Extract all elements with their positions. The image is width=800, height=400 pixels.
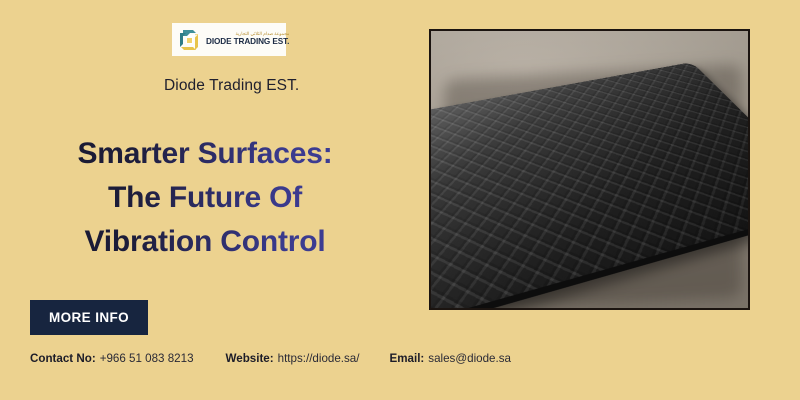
logo-arabic-text: مجموعة صدام الثلاثي التجارية: [206, 32, 289, 36]
contact-email-label: Email:: [389, 352, 424, 365]
contact-phone-value: +966 51 083 8213: [100, 352, 194, 365]
anti-vibration-mat-photo: [429, 29, 750, 310]
more-info-button[interactable]: MORE INFO: [30, 300, 148, 335]
company-name: Diode Trading EST.: [164, 77, 299, 95]
headline-line-2: The Future Of: [0, 176, 410, 220]
contact-website-label: Website:: [226, 352, 274, 365]
contact-strip: Contact No: +966 51 083 8213 Website: ht…: [30, 348, 770, 368]
headline-line-3: Vibration Control: [0, 220, 410, 264]
headline: Smarter Surfaces: The Future Of Vibratio…: [0, 132, 410, 264]
contact-phone: Contact No: +966 51 083 8213: [30, 352, 194, 365]
logo-wordmark: مجموعة صدام الثلاثي التجارية DIODE TRADI…: [206, 32, 289, 46]
contact-website-value[interactable]: https://diode.sa/: [278, 352, 360, 365]
diode-geometric-logo-icon: [176, 27, 202, 53]
contact-phone-label: Contact No:: [30, 352, 96, 365]
company-logo: مجموعة صدام الثلاثي التجارية DIODE TRADI…: [172, 23, 286, 56]
promo-banner: مجموعة صدام الثلاثي التجارية DIODE TRADI…: [0, 0, 800, 400]
contact-email-value[interactable]: sales@diode.sa: [428, 352, 511, 365]
headline-line-1: Smarter Surfaces:: [0, 132, 410, 176]
logo-latin-text: DIODE TRADING EST.: [206, 38, 289, 46]
contact-email: Email: sales@diode.sa: [389, 352, 510, 365]
contact-website: Website: https://diode.sa/: [226, 352, 360, 365]
